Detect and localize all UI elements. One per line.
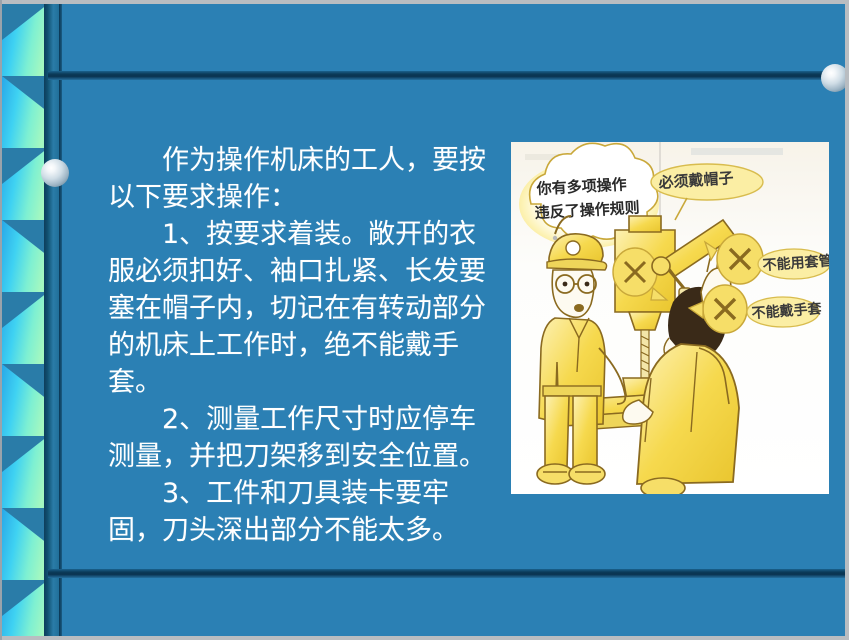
- divider-bar-top: [48, 71, 849, 80]
- ribbon-band: [2, 148, 48, 220]
- divider-bar-bottom: [48, 569, 849, 578]
- frame-edge-right: [845, 0, 849, 640]
- ribbon-band: [2, 4, 48, 76]
- ribbon-band: [2, 292, 48, 364]
- cartoon-drawing: 你有多项操作 违反了操作规则: [511, 142, 829, 494]
- callout-no-sleeve-pipe: 不能用套管: [705, 234, 829, 284]
- paragraph-rule-1: 1、按要求着装。敞开的衣服必须扣好、袖口扎紧、长发要塞在帽子内，切记在有转动部分…: [108, 216, 500, 401]
- ribbon-band: [2, 436, 48, 508]
- ribbon-band: [2, 580, 48, 636]
- slide-canvas: 作为操作机床的工人，要按以下要求操作： 1、按要求着装。敞开的衣服必须扣好、袖口…: [0, 0, 849, 640]
- frame-edge-top: [0, 0, 849, 4]
- zigzag-ribbon-border: [2, 4, 48, 636]
- metallic-sphere-right: [821, 64, 849, 92]
- metallic-sphere-left: [41, 159, 69, 187]
- ribbon-band: [2, 364, 48, 436]
- slide-body-text: 作为操作机床的工人，要按以下要求操作： 1、按要求着装。敞开的衣服必须扣好、袖口…: [108, 142, 500, 549]
- ribbon-band: [2, 76, 48, 148]
- ribbon-band: [2, 508, 48, 580]
- paragraph-rule-2: 2、测量工作尺寸时应停车测量，并把刀架移到安全位置。: [108, 401, 500, 475]
- paragraph-rule-3: 3、工件和刀具装卡要牢固，刀头深出部分不能太多。: [108, 475, 500, 549]
- frame-edge-bottom: [0, 636, 849, 640]
- callout-no-gloves: 不能戴手套: [689, 285, 822, 333]
- ribbon-edge-line: [59, 4, 62, 636]
- ribbon-shadow: [44, 4, 60, 636]
- machine-shop-safety-cartoon: 你有多项操作 违反了操作规则: [511, 142, 829, 494]
- callout-must-wear-hat: 必须戴帽子: [651, 164, 763, 220]
- worker-supervisor: [537, 216, 625, 484]
- paragraph-intro: 作为操作机床的工人，要按以下要求操作：: [108, 142, 500, 216]
- ribbon-band: [2, 220, 48, 292]
